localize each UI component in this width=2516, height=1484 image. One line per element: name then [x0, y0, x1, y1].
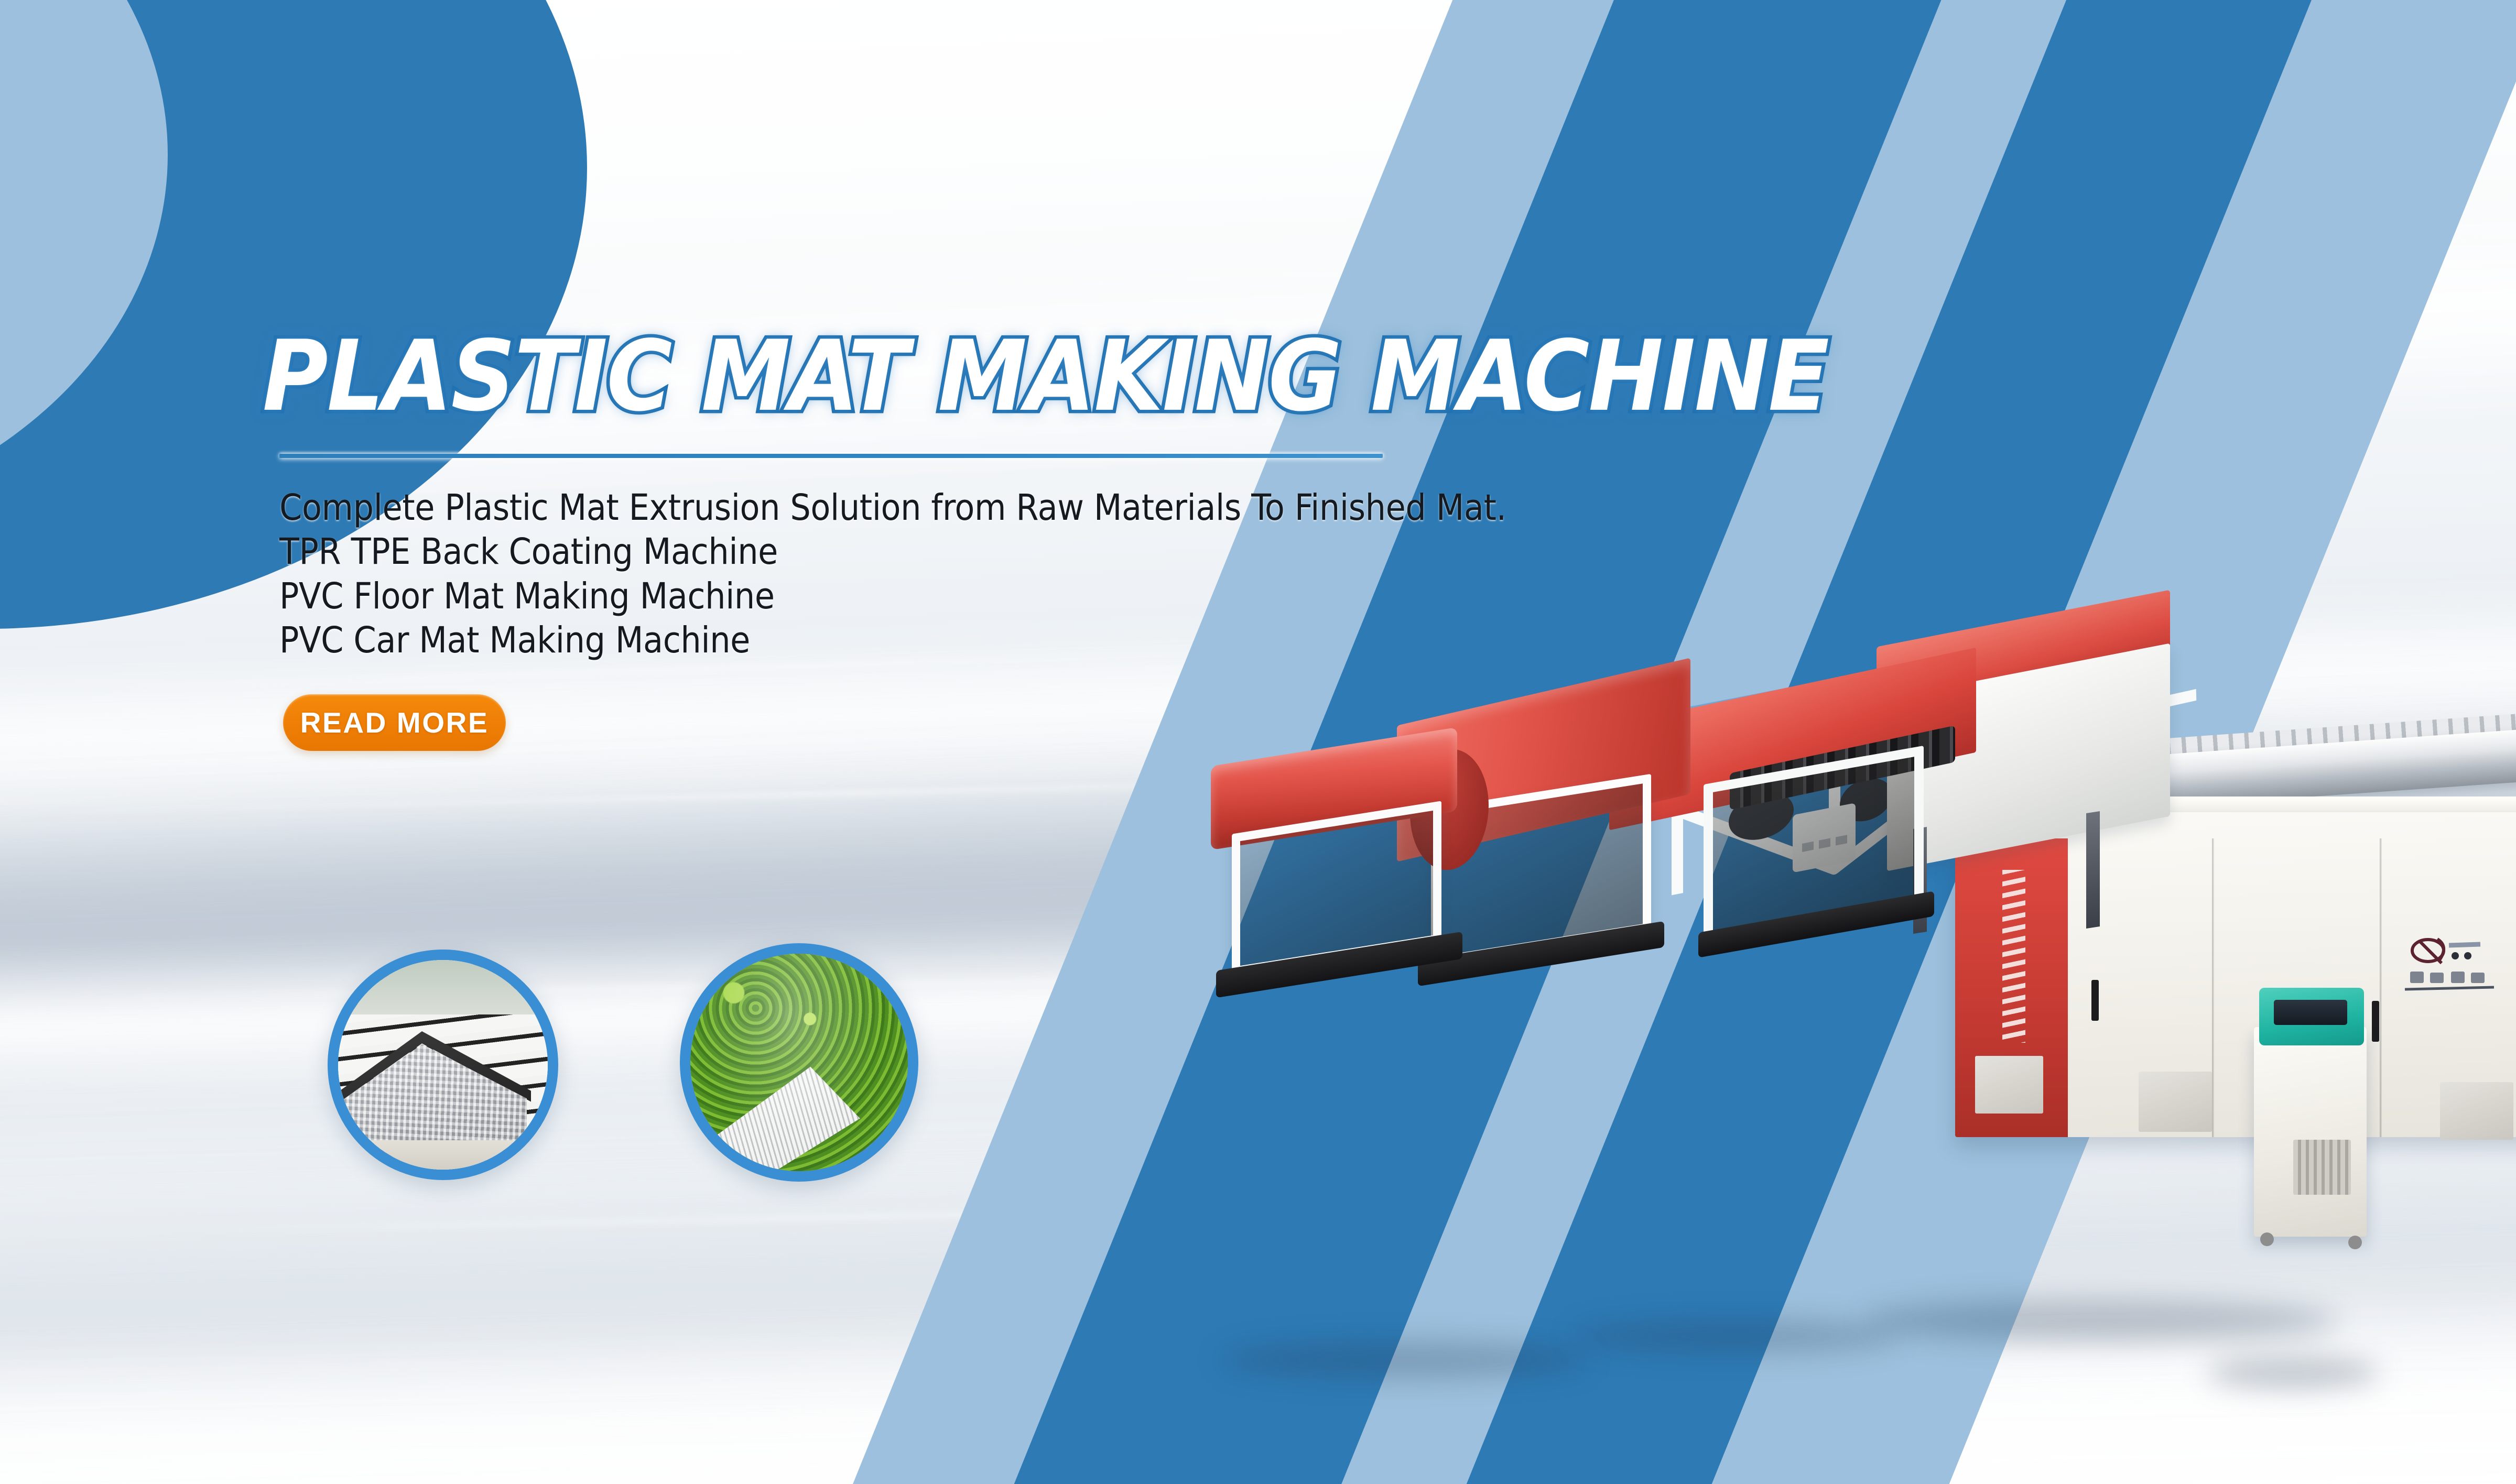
- cabinet-handle: [2372, 1001, 2379, 1042]
- red-panel-decorative-marks: [2002, 870, 2025, 1043]
- cabinet-plate: [2139, 1072, 2212, 1132]
- subcopy-line-1: Complete Plastic Mat Extrusion Solution …: [279, 487, 1642, 528]
- product-circle-striped-mat[interactable]: [328, 950, 558, 1180]
- calender-leg: [2086, 811, 2100, 929]
- water-chiller-unit: [2254, 1027, 2367, 1237]
- brand-logo-mark: [2401, 933, 2506, 1001]
- product-circle-grass-mat[interactable]: [680, 943, 918, 1182]
- chiller-caster: [2348, 1236, 2362, 1249]
- subcopy-line-4: PVC Car Mat Making Machine: [279, 620, 1642, 661]
- chiller-vent: [2293, 1140, 2351, 1195]
- grass-mat-backing: [695, 1067, 860, 1182]
- cabinet-plate: [2440, 1082, 2513, 1140]
- machine-illustration: [1200, 566, 2516, 1383]
- cabinet-handle: [2091, 980, 2099, 1021]
- mat-backing-texture: [328, 1040, 527, 1153]
- title-divider: [279, 454, 1383, 458]
- subcopy-line-2: TPR TPE Back Coating Machine: [279, 531, 1642, 572]
- hero-subcopy: Complete Plastic Mat Extrusion Solution …: [279, 487, 1642, 664]
- cabinet-door-seam: [2380, 838, 2382, 1137]
- page-title: PLASTIC MAT MAKING MACHINE: [263, 328, 1828, 425]
- cabinet-plate: [1975, 1056, 2043, 1114]
- subcopy-line-3: PVC Floor Mat Making Machine: [279, 576, 1642, 617]
- mat-floor: [338, 1140, 548, 1170]
- chiller-display: [2274, 1000, 2347, 1025]
- read-more-button[interactable]: READ MORE: [283, 694, 506, 751]
- cabinet-door-seam: [2212, 838, 2214, 1137]
- chiller-caster: [2260, 1232, 2274, 1246]
- hero-banner: PLASTIC MAT MAKING MACHINE Complete Plas…: [0, 0, 2516, 1484]
